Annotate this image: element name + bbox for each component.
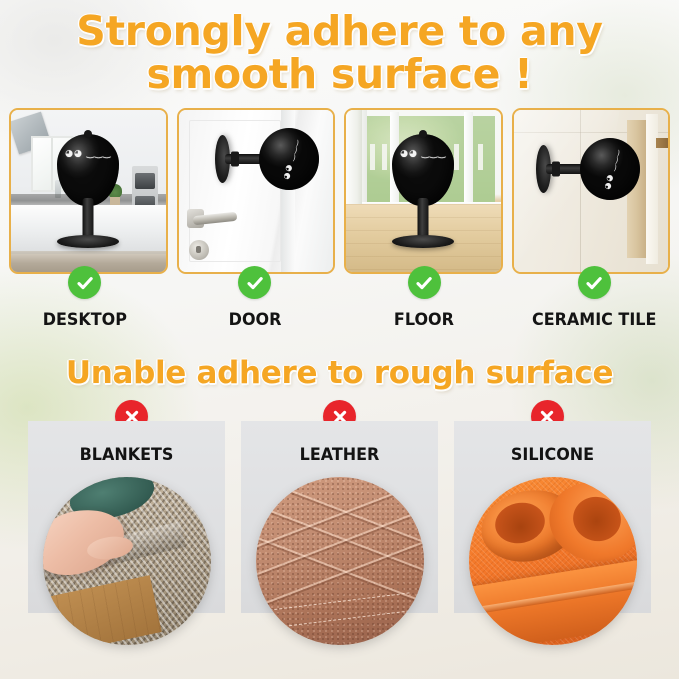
good-surfaces-panel-row: ◕◕ ‿‿‿ ◕◕ ‿‿‿ [9, 108, 670, 274]
badge-cell-ceramic-tile [509, 266, 679, 299]
blanket-weave-texture [43, 477, 211, 645]
photo-panel-ceramic-tile: ◕◕ ‿‿‿ [512, 108, 671, 274]
bad-card-silicone: SILICONE [454, 421, 651, 613]
badge-cell-door [170, 266, 340, 299]
punching-ball-product-vertical: ◕◕ ‿‿‿ [57, 132, 119, 248]
silicone-mat-texture [469, 477, 637, 645]
punching-ball-body: ◕◕ ‿‿‿ [57, 134, 119, 206]
check-icon [238, 266, 271, 299]
door-lock-icon [189, 240, 209, 260]
check-icon [408, 266, 441, 299]
punching-ball-product-horizontal: ◕◕ ‿‿‿ [215, 124, 325, 194]
leather-chevron-seam [256, 477, 424, 556]
surface-label-ceramic-tile: CERAMIC TILE [532, 310, 656, 330]
punching-ball-product-horizontal: ◕◕ ‿‿‿ [536, 134, 646, 204]
punching-ball-top-nub-icon [84, 130, 92, 138]
badge-cell-desktop [0, 266, 170, 299]
badge-cell-floor [340, 266, 510, 299]
label-cell-floor: FLOOR [340, 310, 510, 330]
photo-silicone-texture [469, 477, 637, 645]
page-title-primary: Strongly adhere to any smooth surface ! [0, 10, 679, 97]
photo-leather-texture [256, 477, 424, 645]
scene-ceramic-tile-wall: ◕◕ ‿‿‿ [514, 110, 669, 272]
check-icon [68, 266, 101, 299]
scene-white-kitchen: ◕◕ ‿‿‿ [11, 110, 166, 272]
punching-ball-body: ◕◕ ‿‿‿ [392, 134, 454, 206]
photo-panel-floor: ◕◕ ‿‿‿ [344, 108, 503, 274]
tile-wall-gap [646, 114, 658, 264]
wood-trim-icon [656, 138, 668, 148]
punching-ball-top-nub-icon [419, 130, 427, 138]
smiley-face-icon: ◕◕ ‿‿‿ [392, 150, 454, 159]
page-title-secondary: Unable adhere to rough surface [0, 357, 679, 390]
punching-ball-joint [552, 162, 560, 177]
smiley-face-icon: ◕◕ ‿‿‿ [57, 150, 119, 159]
leather-stitch-line [269, 592, 409, 610]
scene-floor-garden-window: ◕◕ ‿‿‿ [346, 110, 501, 272]
punching-ball-product-vertical: ◕◕ ‿‿‿ [392, 132, 454, 248]
label-cell-door: DOOR [170, 310, 340, 330]
photo-panel-desktop: ◕◕ ‿‿‿ [9, 108, 168, 274]
leather-pebble-texture [256, 477, 424, 645]
surface-label-door: DOOR [228, 310, 281, 330]
surface-label-blankets: BLANKETS [34, 445, 219, 465]
good-surface-badge-row [0, 266, 679, 299]
leather-stitch-line [269, 610, 409, 628]
label-cell-desktop: DESKTOP [0, 310, 170, 330]
bad-card-leather: LEATHER [241, 421, 438, 613]
good-surface-label-row: DESKTOP DOOR FLOOR CERAMIC TILE [0, 310, 679, 330]
bad-card-blankets: BLANKETS [28, 421, 225, 613]
wood-floor-under-rug [43, 575, 162, 645]
surface-label-leather: LEATHER [247, 445, 432, 465]
check-icon [578, 266, 611, 299]
scene-white-door: ◕◕ ‿‿‿ [179, 110, 334, 272]
punching-ball-joint [231, 152, 239, 167]
surface-label-silicone: SILICONE [460, 445, 645, 465]
photo-panel-door: ◕◕ ‿‿‿ [177, 108, 336, 274]
window-mullion [464, 112, 473, 206]
punching-ball-suction-base [57, 235, 119, 248]
label-cell-ceramic-tile: CERAMIC TILE [509, 310, 679, 330]
punching-ball-suction-base [392, 235, 454, 248]
product-infographic: Strongly adhere to any smooth surface ! … [0, 0, 679, 679]
photo-blanket-texture [43, 477, 211, 645]
bad-surfaces-card-row: BLANKETS LEATHER [28, 421, 651, 613]
surface-label-floor: FLOOR [394, 310, 454, 330]
surface-label-desktop: DESKTOP [43, 310, 127, 330]
leather-chevron-seam [256, 477, 424, 556]
